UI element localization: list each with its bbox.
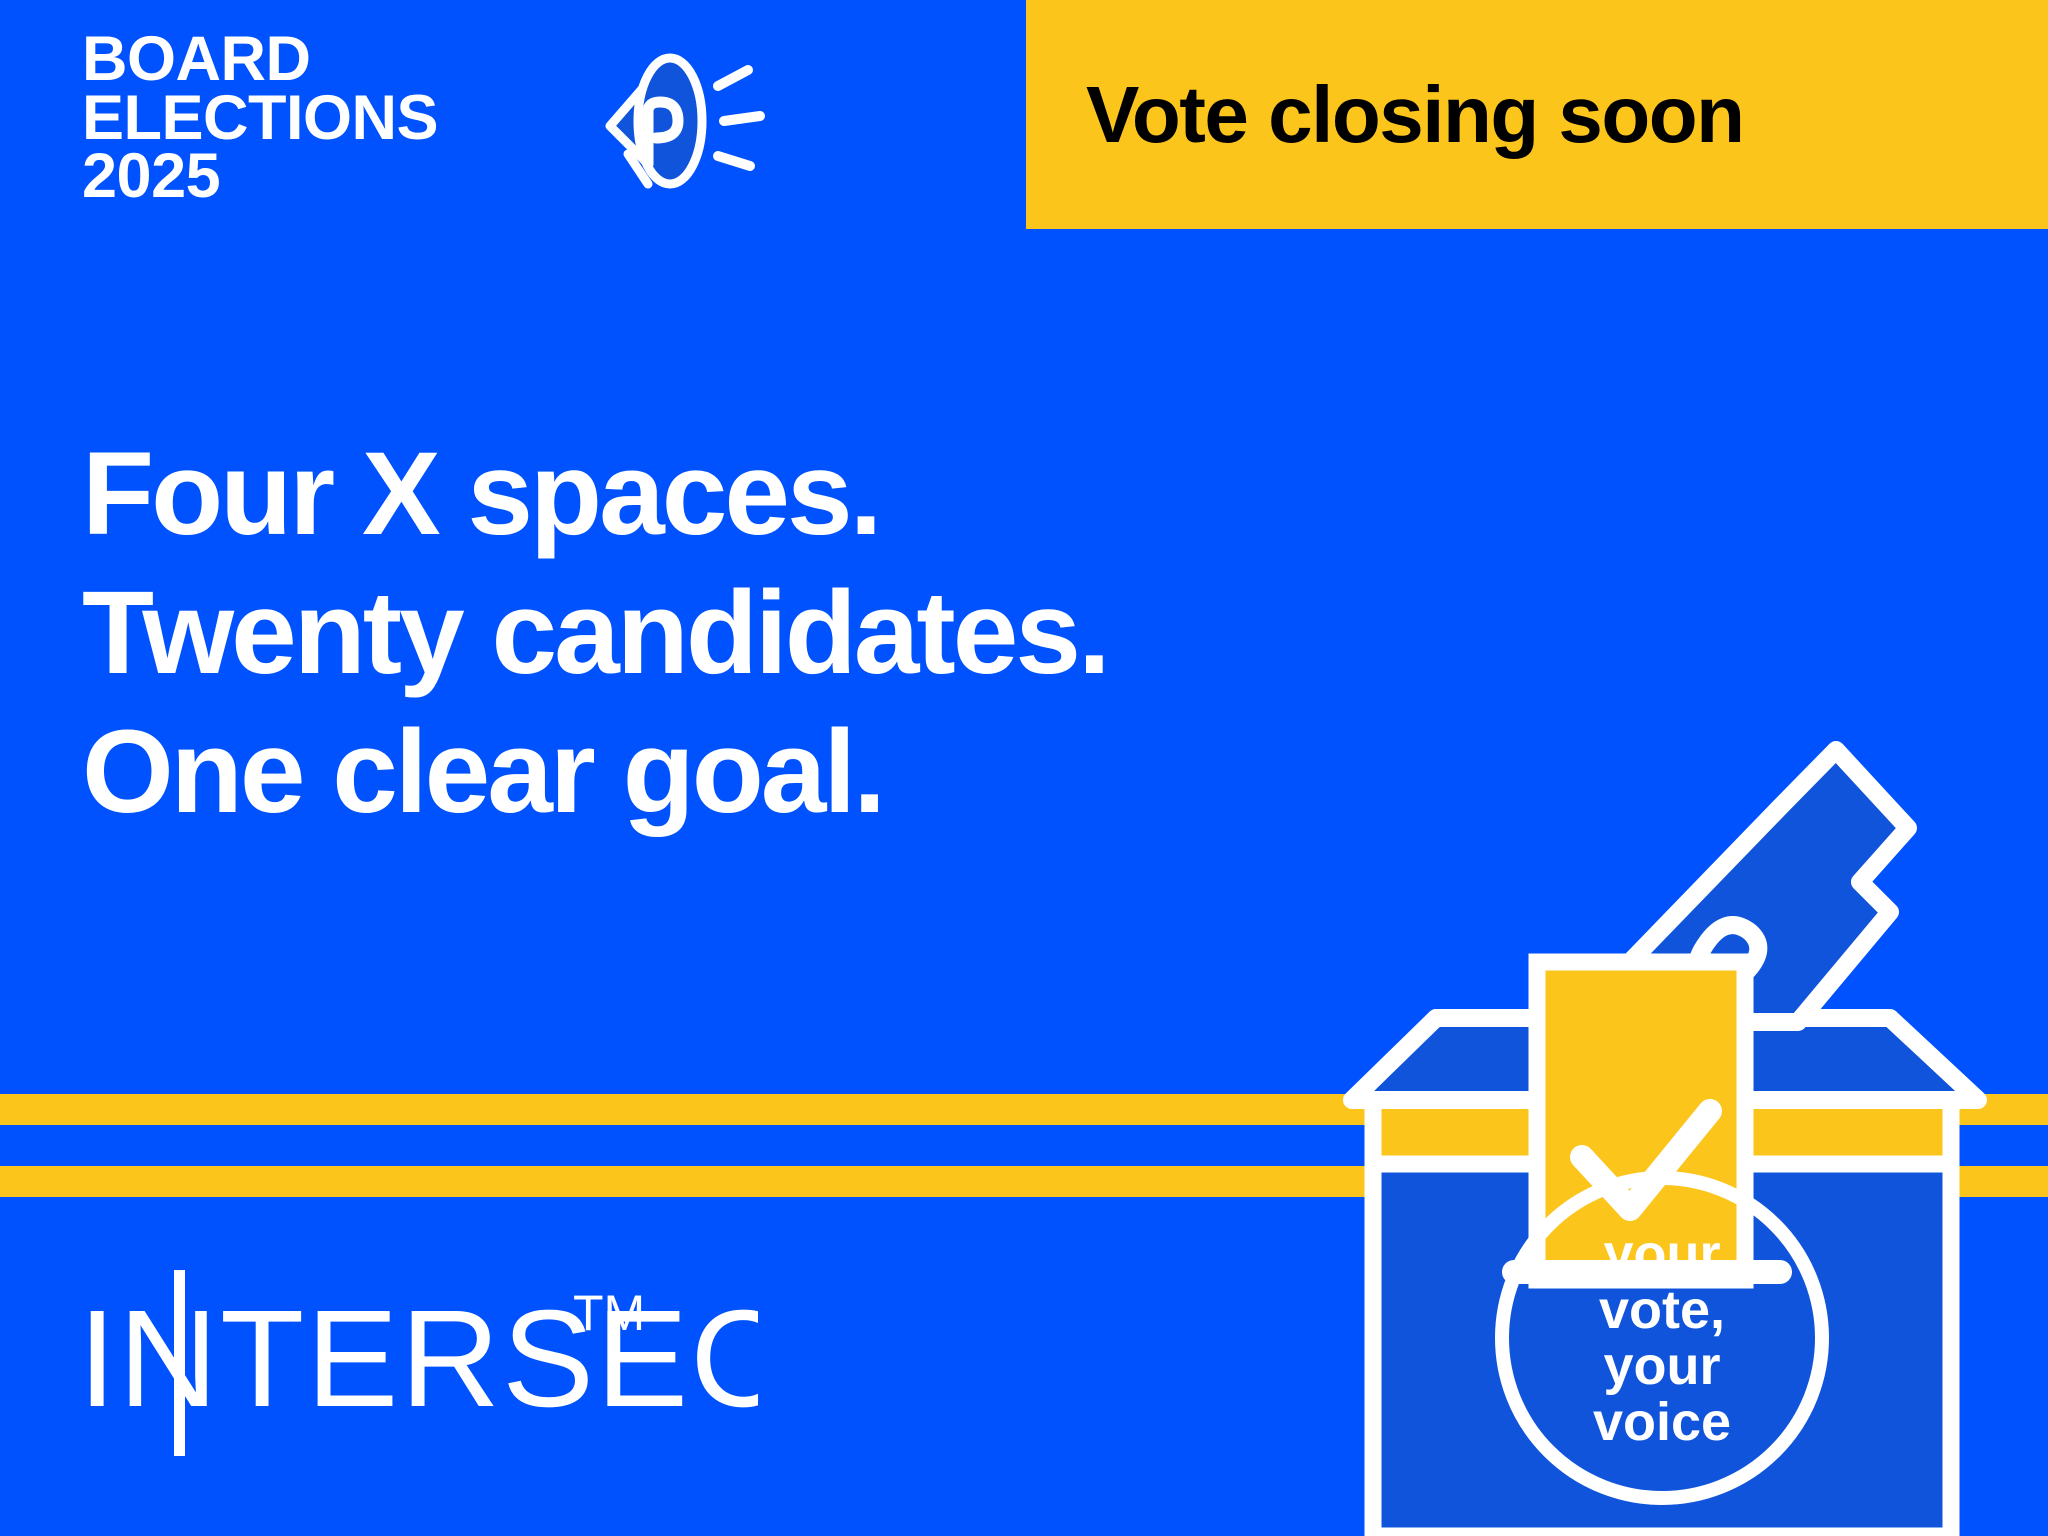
eyebrow-line-1: BOARD — [82, 30, 782, 89]
headline-line-1: Four X spaces. — [82, 425, 1108, 564]
eyebrow-line-3: 2025 — [82, 147, 782, 206]
seal-line-4: voice — [1593, 1392, 1731, 1452]
logo-trademark-text: TM — [573, 1285, 645, 1341]
eyebrow-line-2: ELECTIONS — [82, 89, 782, 148]
poster-canvas: BOARD ELECTIONS 2025 Vote closing soon F… — [0, 0, 2048, 1536]
ballot-box-illustration: your vote, your voice — [1330, 700, 2048, 1536]
banner-label: Vote closing soon — [1026, 75, 1744, 155]
vote-closing-banner: Vote closing soon — [1026, 0, 2048, 229]
logo-intersect-bar — [174, 1270, 185, 1456]
seal-line-1: your — [1603, 1224, 1720, 1284]
headline-line-3: One clear goal. — [82, 703, 1108, 842]
headline-line-2: Twenty candidates. — [82, 564, 1108, 703]
eyebrow-block: BOARD ELECTIONS 2025 — [82, 30, 782, 206]
seal-line-2: vote, — [1599, 1280, 1725, 1340]
seal-line-3: your — [1603, 1336, 1720, 1396]
headline-block: Four X spaces. Twenty candidates. One cl… — [82, 425, 1108, 843]
intersect-logo: INTERSECT TM — [78, 1258, 758, 1468]
